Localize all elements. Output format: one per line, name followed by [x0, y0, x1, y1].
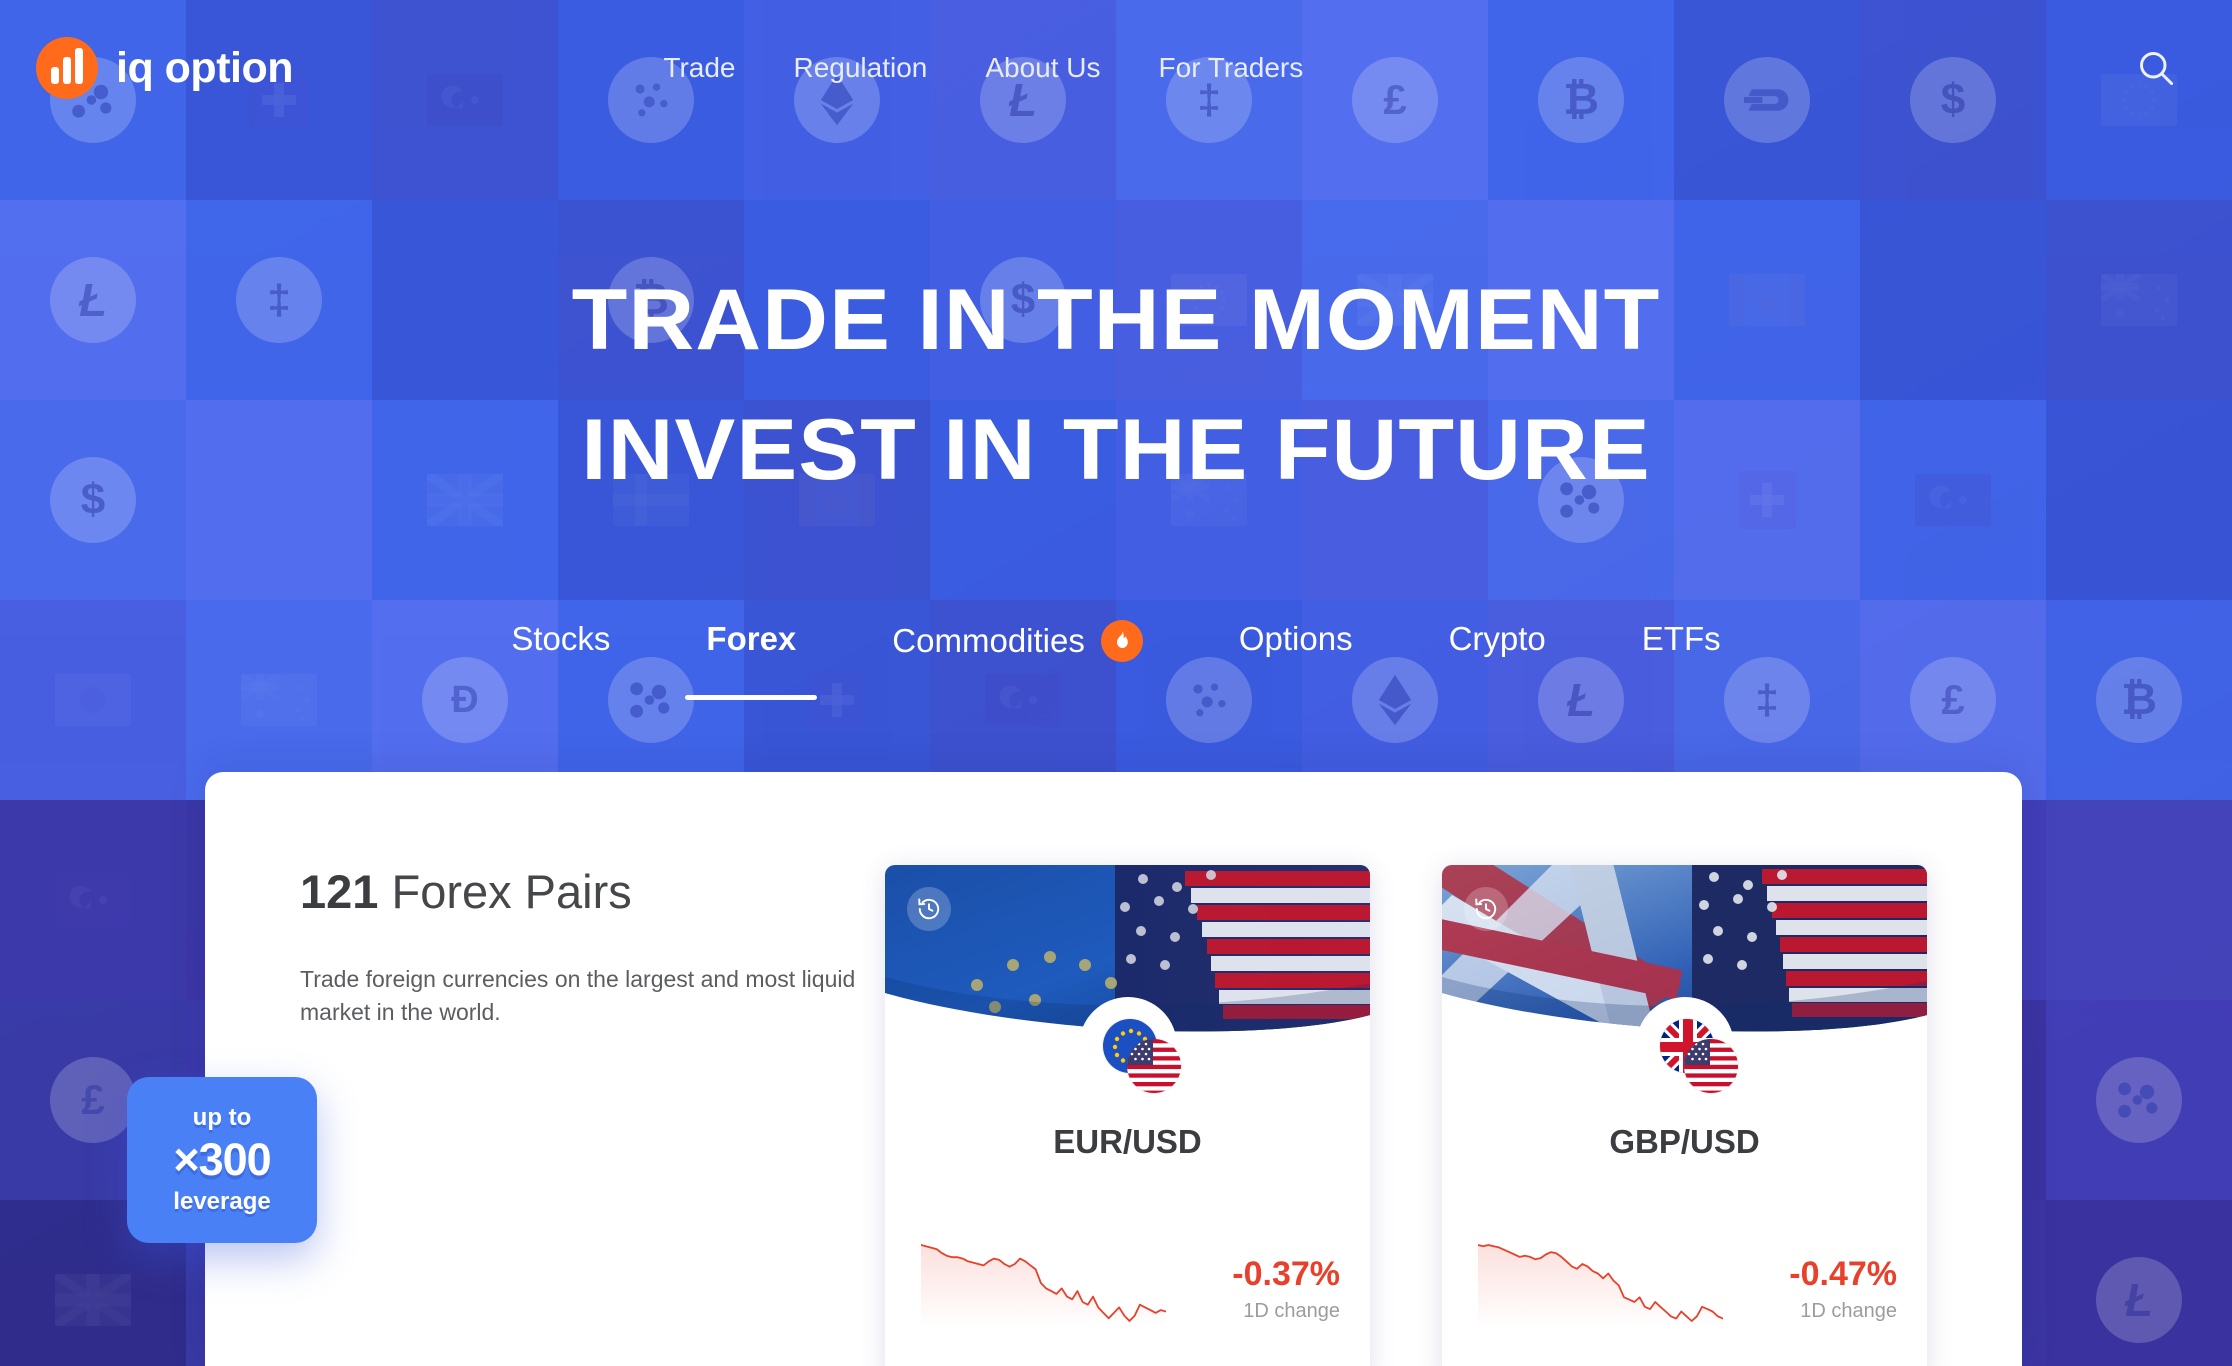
au-flag-tile-icon	[241, 674, 317, 726]
tab-label: Forex	[706, 620, 796, 658]
eth-tile-icon	[1352, 657, 1438, 743]
flag-pair-badge	[1636, 997, 1734, 1095]
asset-symbol: GBP/USD	[1442, 1123, 1927, 1161]
page-title: 121 Forex Pairs	[300, 864, 860, 919]
tab-crypto[interactable]: Crypto	[1401, 620, 1594, 658]
nav-item-for-traders[interactable]: For Traders	[1159, 52, 1304, 84]
jp-flag-tile-icon	[55, 674, 131, 726]
tab-commodities[interactable]: Commodities	[844, 620, 1191, 662]
sparkline-chart	[921, 1237, 1166, 1327]
headline-line-1: TRADE IN THE MOMENT	[0, 255, 2232, 385]
doge-tile-icon: Đ	[422, 657, 508, 743]
forex-description: Trade foreign currencies on the largest …	[300, 963, 860, 1029]
pairs-count: 121	[300, 865, 378, 918]
forex-summary: 121 Forex Pairs Trade foreign currencies…	[300, 864, 860, 1029]
tab-label: ETFs	[1642, 620, 1721, 658]
change-period-label: 1D change	[1232, 1300, 1340, 1323]
zec-tile-icon: ‡	[1724, 657, 1810, 743]
flag-pair-badge	[1079, 997, 1177, 1095]
content-panel: 121 Forex Pairs Trade foreign currencies…	[205, 772, 2022, 1366]
headline-line-2: INVEST IN THE FUTURE	[0, 385, 2232, 515]
logo-text: iq option	[116, 44, 293, 93]
us-flag-icon	[1683, 1038, 1739, 1094]
tab-label: Commodities	[892, 622, 1085, 660]
asset-card-eurusd[interactable]: EUR/USD -0.37% 1D change	[885, 865, 1370, 1366]
tab-options[interactable]: Options	[1191, 620, 1401, 658]
nav-item-regulation[interactable]: Regulation	[793, 52, 927, 84]
tab-etfs[interactable]: ETFs	[1594, 620, 1769, 658]
tr-flag-tile-icon	[55, 874, 131, 926]
tab-label: Options	[1239, 620, 1353, 658]
leverage-value: ×300	[127, 1132, 317, 1188]
us-flag-icon	[1126, 1038, 1182, 1094]
tab-forex[interactable]: Forex	[658, 620, 844, 658]
change-block: -0.47% 1D change	[1789, 1254, 1897, 1327]
hero-headline: TRADE IN THE MOMENT INVEST IN THE FUTURE	[0, 255, 2232, 515]
ltc-tile-icon: Ł	[2096, 1257, 2182, 1343]
site-header: iq option Trade Regulation About Us For …	[0, 0, 2232, 136]
asset-symbol: EUR/USD	[885, 1123, 1370, 1161]
card-chart-row: -0.37% 1D change	[885, 1237, 1370, 1327]
ch-flag-tile-icon	[808, 671, 866, 729]
search-icon[interactable]	[2134, 46, 2178, 90]
background-tile	[2046, 1000, 2232, 1200]
background-tile	[0, 800, 186, 1000]
asset-card-list: EUR/USD -0.37% 1D change	[885, 865, 1927, 1366]
history-clock-icon	[907, 887, 951, 931]
uk-flag-tile-icon	[55, 1274, 131, 1326]
background-tile	[2046, 800, 2232, 1000]
gbp-tile-icon: £	[50, 1057, 136, 1143]
main-nav: Trade Regulation About Us For Traders	[663, 52, 1303, 84]
gbp-tile-icon: £	[1910, 657, 1996, 743]
history-clock-icon	[1464, 887, 1508, 931]
leverage-bottom-label: leverage	[127, 1188, 317, 1216]
change-percent: -0.47%	[1789, 1254, 1897, 1294]
leverage-badge: up to ×300 leverage	[127, 1077, 317, 1243]
leverage-top-label: up to	[127, 1104, 317, 1132]
tr-flag-tile-icon	[985, 674, 1061, 726]
change-percent: -0.37%	[1232, 1254, 1340, 1294]
tab-stocks[interactable]: Stocks	[463, 620, 658, 658]
nav-item-about-us[interactable]: About Us	[985, 52, 1100, 84]
flame-icon	[1101, 620, 1143, 662]
tab-active-underline	[685, 695, 817, 700]
btc-tile-icon: ₿	[2096, 657, 2182, 743]
sparkline-chart	[1478, 1237, 1723, 1327]
asset-card-gbpusd[interactable]: GBP/USD -0.47% 1D change	[1442, 865, 1927, 1366]
xrp-tile-icon	[608, 657, 694, 743]
category-tabs: Stocks Forex Commodities Options Crypto …	[0, 620, 2232, 662]
pairs-title-rest: Forex Pairs	[378, 865, 631, 918]
iota-tile-icon	[1166, 657, 1252, 743]
change-period-label: 1D change	[1789, 1300, 1897, 1323]
change-block: -0.37% 1D change	[1232, 1254, 1340, 1327]
bar-chart-icon	[36, 37, 98, 99]
card-chart-row: -0.47% 1D change	[1442, 1237, 1927, 1327]
tab-label: Crypto	[1449, 620, 1546, 658]
nav-item-trade[interactable]: Trade	[663, 52, 735, 84]
xrp-tile-icon	[2096, 1057, 2182, 1143]
brand-logo[interactable]: iq option	[36, 37, 293, 99]
background-tile: Ł	[2046, 1200, 2232, 1366]
tab-label: Stocks	[511, 620, 610, 658]
ltc-tile-icon: Ł	[1538, 657, 1624, 743]
